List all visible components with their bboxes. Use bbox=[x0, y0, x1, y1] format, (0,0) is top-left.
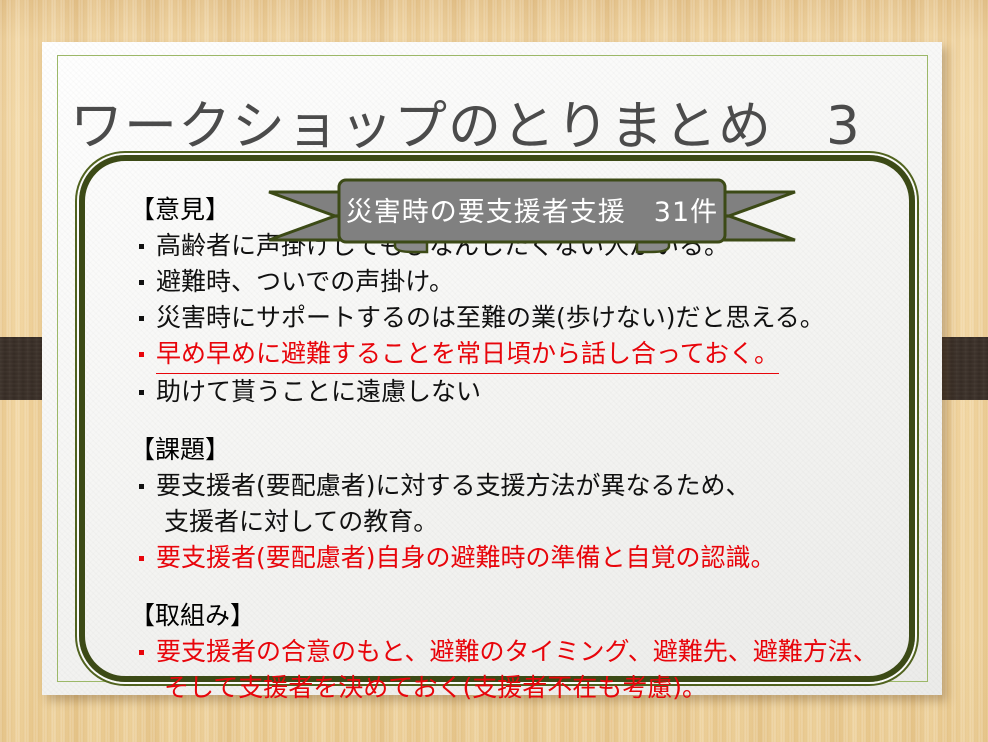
bullet-marker-icon bbox=[139, 316, 144, 321]
section-gap bbox=[130, 410, 890, 432]
list-item-text: 要支援者(要配慮者)自身の避難時の準備と自覚の認識。 bbox=[156, 540, 776, 576]
section-heading: 【取組み】 bbox=[130, 598, 890, 634]
list-item-text: 避難時、ついでの声掛け。 bbox=[156, 264, 454, 300]
bullet-list: 要支援者(要配慮者)に対する支援方法が異なるため、 支援者に対しての教育。 要支… bbox=[130, 468, 890, 576]
slide-body: 【意見】 高齢者に声掛けしてもひなんしたくない人がいる。 避難時、ついでの声掛け… bbox=[130, 192, 890, 706]
list-item-continuation: そして支援者を決めておく(支援者不在も考慮)。 bbox=[130, 670, 890, 706]
list-item: 助けて貰うことに遠慮しない bbox=[130, 374, 890, 410]
list-item-continuation: 支援者に対しての教育。 bbox=[130, 504, 890, 540]
bullet-marker-icon bbox=[139, 244, 144, 249]
page-title: ワークショップのとりまとめ 3 bbox=[70, 96, 910, 158]
bullet-marker-icon bbox=[139, 650, 144, 655]
list-item: 要支援者(要配慮者)に対する支援方法が異なるため、 bbox=[130, 468, 890, 504]
list-item-highlighted: 要支援者(要配慮者)自身の避難時の準備と自覚の認識。 bbox=[130, 540, 890, 576]
section-issues: 【課題】 要支援者(要配慮者)に対する支援方法が異なるため、 支援者に対しての教… bbox=[130, 432, 890, 576]
slide-card: ワークショップのとりまとめ 3 災害時の要支援者支援 31件 【意見】 bbox=[42, 42, 942, 695]
list-item-text: 要支援者(要配慮者)に対する支援方法が異なるため、 bbox=[156, 468, 751, 504]
slide-canvas: ワークショップのとりまとめ 3 災害時の要支援者支援 31件 【意見】 bbox=[0, 0, 988, 742]
list-item-text: 早め早めに避難することを常日頃から話し合っておく。 bbox=[156, 336, 779, 374]
bullet-marker-icon bbox=[139, 484, 144, 489]
bullet-marker-icon bbox=[139, 390, 144, 395]
section-gap bbox=[130, 576, 890, 598]
bullet-marker-icon bbox=[139, 556, 144, 561]
list-item-text: 助けて貰うことに遠慮しない bbox=[156, 374, 481, 410]
section-actions: 【取組み】 要支援者の合意のもと、避難のタイミング、避難先、避難方法、 そして支… bbox=[130, 598, 890, 706]
ribbon-shape bbox=[267, 170, 797, 262]
list-item-highlighted: 要支援者の合意のもと、避難のタイミング、避難先、避難方法、 bbox=[130, 634, 890, 670]
list-item-text: 要支援者の合意のもと、避難のタイミング、避難先、避難方法、 bbox=[156, 634, 878, 670]
list-item-highlighted: 早め早めに避難することを常日頃から話し合っておく。 bbox=[130, 336, 890, 374]
list-item: 災害時にサポートするのは至難の業(歩けない)だと思える。 bbox=[130, 300, 890, 336]
section-heading: 【課題】 bbox=[130, 432, 890, 468]
list-item: 避難時、ついでの声掛け。 bbox=[130, 264, 890, 300]
section-banner: 災害時の要支援者支援 31件 bbox=[267, 170, 797, 262]
bullet-marker-icon bbox=[139, 280, 144, 285]
bullet-list: 要支援者の合意のもと、避難のタイミング、避難先、避難方法、 そして支援者を決めて… bbox=[130, 634, 890, 706]
bullet-marker-icon bbox=[139, 352, 144, 357]
list-item-text: 災害時にサポートするのは至難の業(歩けない)だと思える。 bbox=[156, 300, 825, 336]
ribbon-plate bbox=[339, 180, 725, 242]
